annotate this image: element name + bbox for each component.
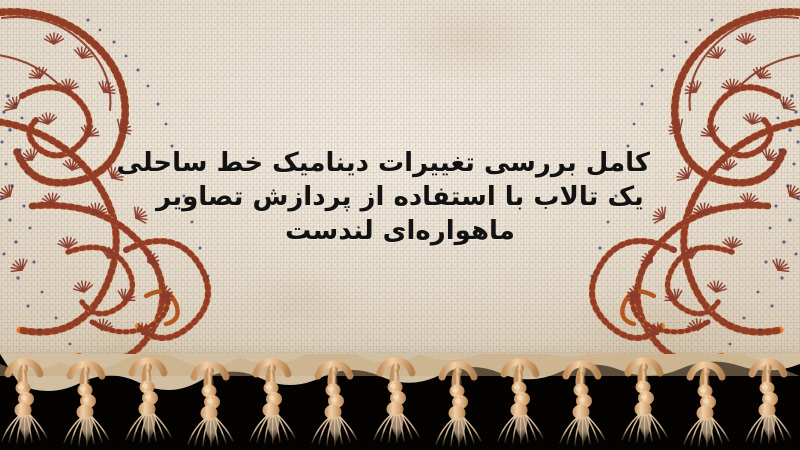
tassel-fringe-svg [0, 354, 800, 450]
tassel-fringe [0, 354, 800, 450]
page-title: کامل بررسی تغییرات دینامیک خط ساحلی یک ت… [150, 146, 650, 248]
title-line-3: ماهواره‌ای لندست [150, 214, 650, 248]
title-line-2: یک تالاب با استفاده از پردازش تصاویر [150, 180, 650, 214]
title-line-1: کامل بررسی تغییرات دینامیک خط ساحلی [150, 146, 650, 180]
slide-canvas: کامل بررسی تغییرات دینامیک خط ساحلی یک ت… [0, 0, 800, 450]
